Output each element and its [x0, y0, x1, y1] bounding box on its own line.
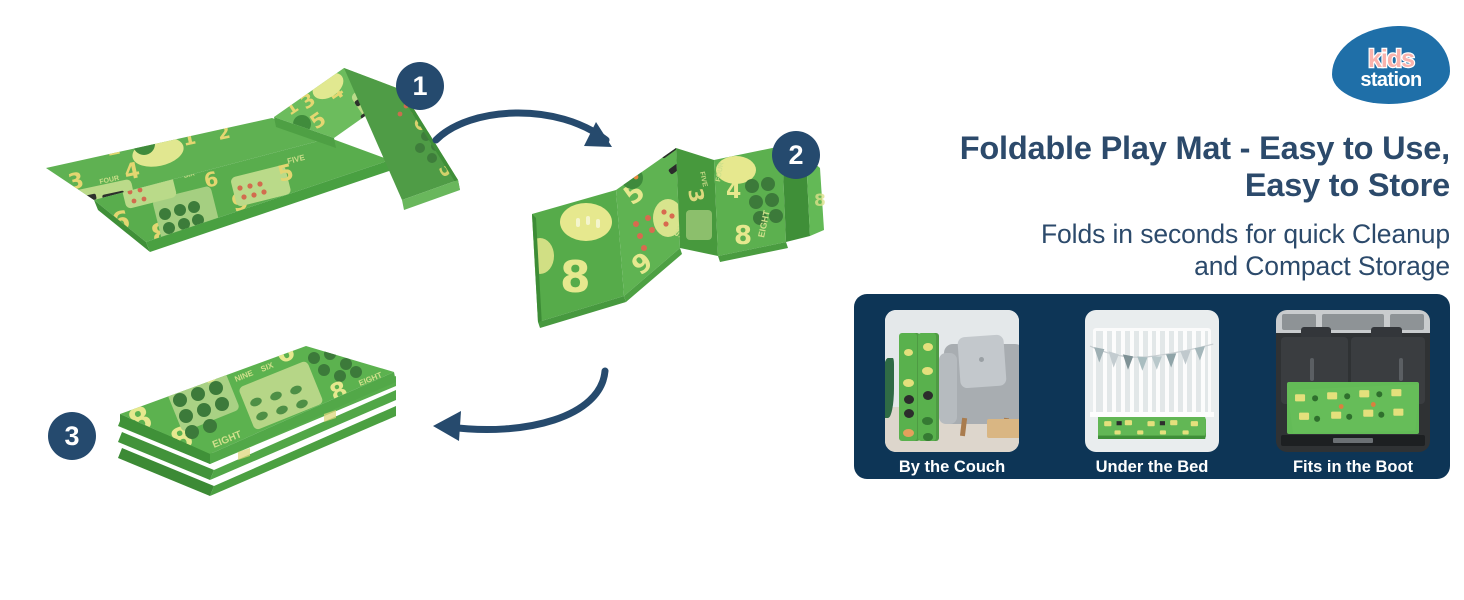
step-badge-2: 2 — [772, 131, 820, 179]
arrow-step1-to-step2 — [430, 100, 630, 180]
storage-option-couch-caption: By the Couch — [877, 458, 1027, 477]
mat-dot — [904, 409, 914, 418]
car-boot-photo-card — [1276, 310, 1430, 452]
folded-mat-right — [918, 333, 939, 441]
storage-option-bed: Under the Bed — [1085, 310, 1219, 452]
mat-dot — [904, 395, 914, 404]
storage-option-boot: Fits in the Boot — [1276, 310, 1430, 452]
logo-trademark-symbol: ™ — [1441, 40, 1448, 47]
boot-badge-plate — [1333, 438, 1373, 444]
storage-option-bed-caption: Under the Bed — [1077, 458, 1227, 477]
storage-options-panel: By the Couch — [854, 294, 1450, 479]
step-badge-2-number: 2 — [788, 142, 803, 169]
storage-option-couch: By the Couch — [885, 310, 1019, 452]
folded-mat-in-boot — [1287, 382, 1419, 433]
svg-text:8: 8 — [734, 221, 752, 251]
step-badge-1: 1 — [396, 62, 444, 110]
wooden-table — [987, 419, 1019, 437]
living-room-scene — [885, 310, 1019, 452]
svg-text:8: 8 — [814, 191, 826, 211]
mat-dot — [903, 429, 914, 437]
folded-mat-under-crib — [1098, 417, 1205, 440]
crib-photo-card — [1085, 310, 1219, 452]
arrow-step2-to-step3 — [415, 355, 625, 455]
car-boot-scene — [1276, 310, 1430, 452]
storage-option-boot-caption: Fits in the Boot — [1276, 458, 1430, 477]
cushion-tuft — [979, 357, 984, 362]
svg-text:4: 4 — [726, 179, 741, 204]
logo-text-station: station — [1332, 70, 1450, 90]
sofa-arm — [939, 353, 958, 424]
infographic-canvas: 3 FOUR 4 2 1 2 6 8 EIGHT — [0, 0, 1464, 600]
mat-dot — [922, 417, 933, 425]
mat-dot — [922, 367, 933, 375]
step-badge-3-number: 3 — [64, 423, 79, 450]
mat-dot — [904, 349, 913, 356]
brand-logo: kids station ™ — [1332, 26, 1450, 104]
seat-strap — [1399, 358, 1403, 381]
step-badge-1-number: 1 — [412, 73, 427, 100]
svg-text:8: 8 — [560, 252, 591, 303]
mat-dot — [923, 391, 933, 400]
seat-strap — [1310, 358, 1314, 381]
mat-dot — [923, 433, 933, 441]
nursery-scene — [1085, 310, 1219, 452]
bunting-garland — [1090, 341, 1213, 378]
mat-dot — [903, 379, 914, 387]
product-photo-folded-stack: 8 8 EIGHT 9 NINE 6 SIX — [110, 330, 405, 515]
couch-photo-card — [885, 310, 1019, 452]
step-badge-3: 3 — [48, 412, 96, 460]
mat-dot — [923, 343, 933, 351]
folded-mat-left — [899, 333, 920, 441]
